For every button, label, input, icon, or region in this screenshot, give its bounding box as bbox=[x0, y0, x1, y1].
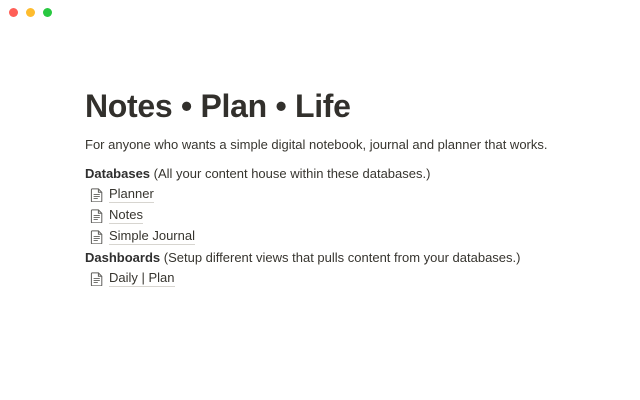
page-subtitle: For anyone who wants a simple digital no… bbox=[85, 134, 565, 155]
page-content: Notes • Plan • Life For anyone who wants… bbox=[85, 86, 565, 289]
section-label-dashboards: Dashboards bbox=[85, 250, 160, 265]
page-title: Notes • Plan • Life bbox=[85, 86, 565, 126]
page-icon bbox=[90, 209, 104, 223]
app-window: Notes • Plan • Life For anyone who wants… bbox=[0, 0, 640, 400]
section-heading-dashboards: Dashboards (Setup different views that p… bbox=[85, 247, 565, 268]
traffic-light-buttons bbox=[9, 8, 52, 17]
page-icon bbox=[90, 188, 104, 202]
page-link-label[interactable]: Planner bbox=[109, 186, 154, 203]
list-item[interactable]: Simple Journal bbox=[85, 226, 565, 247]
maximize-window-button[interactable] bbox=[43, 8, 52, 17]
section-description-dashboards: (Setup different views that pulls conten… bbox=[160, 250, 520, 265]
section-description-databases: (All your content house within these dat… bbox=[150, 166, 430, 181]
list-item[interactable]: Planner bbox=[85, 184, 565, 205]
section-label-databases: Databases bbox=[85, 166, 150, 181]
close-window-button[interactable] bbox=[9, 8, 18, 17]
page-icon bbox=[90, 272, 104, 286]
page-link-label[interactable]: Daily | Plan bbox=[109, 270, 175, 287]
page-link-label[interactable]: Notes bbox=[109, 207, 143, 224]
section-heading-databases: Databases (All your content house within… bbox=[85, 163, 565, 184]
list-item[interactable]: Notes bbox=[85, 205, 565, 226]
page-link-label[interactable]: Simple Journal bbox=[109, 228, 195, 245]
list-item[interactable]: Daily | Plan bbox=[85, 268, 565, 289]
page-icon bbox=[90, 230, 104, 244]
window-titlebar bbox=[0, 0, 640, 26]
minimize-window-button[interactable] bbox=[26, 8, 35, 17]
